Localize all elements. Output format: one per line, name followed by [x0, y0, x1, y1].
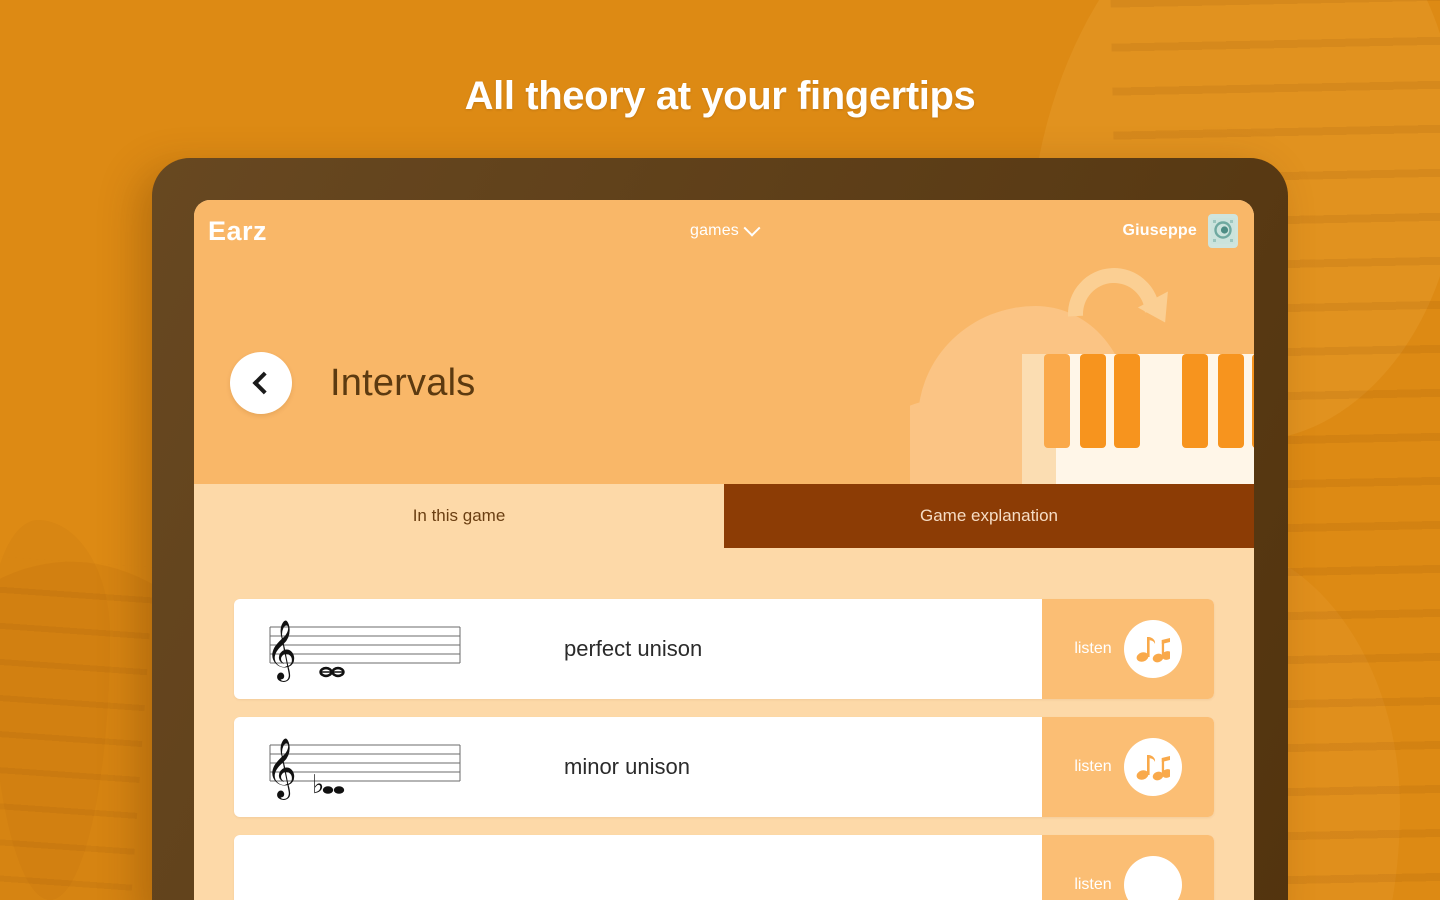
- page-title: Intervals: [330, 362, 475, 405]
- tab-label: In this game: [413, 506, 506, 526]
- treble-staff-two-whole-notes-icon: 𝄞: [234, 599, 564, 699]
- svg-text:𝄞: 𝄞: [266, 620, 297, 682]
- tab-game-explanation[interactable]: Game explanation: [724, 484, 1254, 548]
- interval-name: minor unison: [564, 717, 1042, 817]
- back-button[interactable]: [230, 352, 292, 414]
- user-name-label: Giuseppe: [1122, 222, 1197, 240]
- music-notes-icon: [1124, 620, 1182, 678]
- svg-text:♭: ♭: [312, 770, 324, 800]
- interval-list: 𝄞 perfect unison listen: [194, 548, 1254, 900]
- chevron-down-icon: [744, 220, 761, 237]
- chevron-left-icon: [253, 372, 276, 395]
- piano-keyboard-illustration: [1022, 354, 1254, 484]
- listen-button[interactable]: listen: [1042, 717, 1214, 817]
- main-nav: games: [194, 222, 1254, 240]
- nav-games-label: games: [690, 222, 739, 240]
- loop-arrow-icon: [1068, 268, 1172, 326]
- user-avatar-icon[interactable]: [1208, 214, 1238, 248]
- tab-in-this-game[interactable]: In this game: [194, 484, 724, 548]
- app-top-bar: Earz games Giuseppe: [194, 200, 1254, 262]
- app-screen: Earz games Giuseppe: [194, 200, 1254, 900]
- page-hero: Intervals: [194, 262, 1254, 484]
- listen-button[interactable]: listen: [1042, 599, 1214, 699]
- treble-staff-icon: [234, 835, 564, 900]
- hero-illustration: [910, 262, 1254, 484]
- app-logo[interactable]: Earz: [208, 216, 267, 247]
- list-item[interactable]: 𝄞 ♭ minor unison listen: [234, 717, 1214, 817]
- music-notes-icon: [1124, 856, 1182, 900]
- promo-screenshot: All theory at your fingertips Earz games…: [0, 0, 1440, 900]
- user-menu[interactable]: Giuseppe: [1122, 214, 1238, 248]
- background-texture-stripes: [0, 554, 154, 900]
- list-item[interactable]: listen: [234, 835, 1214, 900]
- listen-label: listen: [1074, 758, 1111, 776]
- page-title-row: Intervals: [230, 352, 475, 414]
- tablet-device-frame: Earz games Giuseppe: [152, 158, 1288, 900]
- promo-headline: All theory at your fingertips: [0, 74, 1440, 119]
- interval-name: [564, 835, 1042, 900]
- tab-bar: In this game Game explanation: [194, 484, 1254, 548]
- tab-label: Game explanation: [920, 506, 1058, 526]
- listen-label: listen: [1074, 640, 1111, 658]
- music-notes-icon: [1124, 738, 1182, 796]
- listen-label: listen: [1074, 876, 1111, 894]
- listen-button[interactable]: listen: [1042, 835, 1214, 900]
- treble-staff-flat-two-whole-notes-icon: 𝄞 ♭: [234, 717, 564, 817]
- interval-name: perfect unison: [564, 599, 1042, 699]
- nav-item-games[interactable]: games: [690, 222, 758, 240]
- list-item[interactable]: 𝄞 perfect unison listen: [234, 599, 1214, 699]
- svg-text:𝄞: 𝄞: [266, 738, 297, 800]
